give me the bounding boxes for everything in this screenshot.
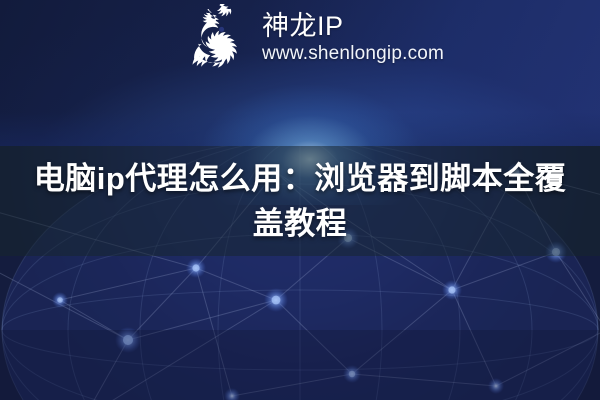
brand-website-url: www.shenlongip.com <box>262 42 444 65</box>
title-overlay-band: 电脑ip代理怎么用：浏览器到脚本全覆盖教程 <box>0 146 600 256</box>
bottom-vignette <box>0 330 600 400</box>
dragon-logo-icon <box>188 4 250 70</box>
promo-banner: 神龙IP www.shenlongip.com 电脑ip代理怎么用：浏览器到脚本… <box>0 0 600 400</box>
brand-logo[interactable]: 神龙IP www.shenlongip.com <box>188 4 444 70</box>
brand-name: 神龙IP <box>262 11 444 42</box>
page-title: 电脑ip代理怎么用：浏览器到脚本全覆盖教程 <box>30 156 570 246</box>
brand-text-group: 神龙IP www.shenlongip.com <box>262 9 444 65</box>
